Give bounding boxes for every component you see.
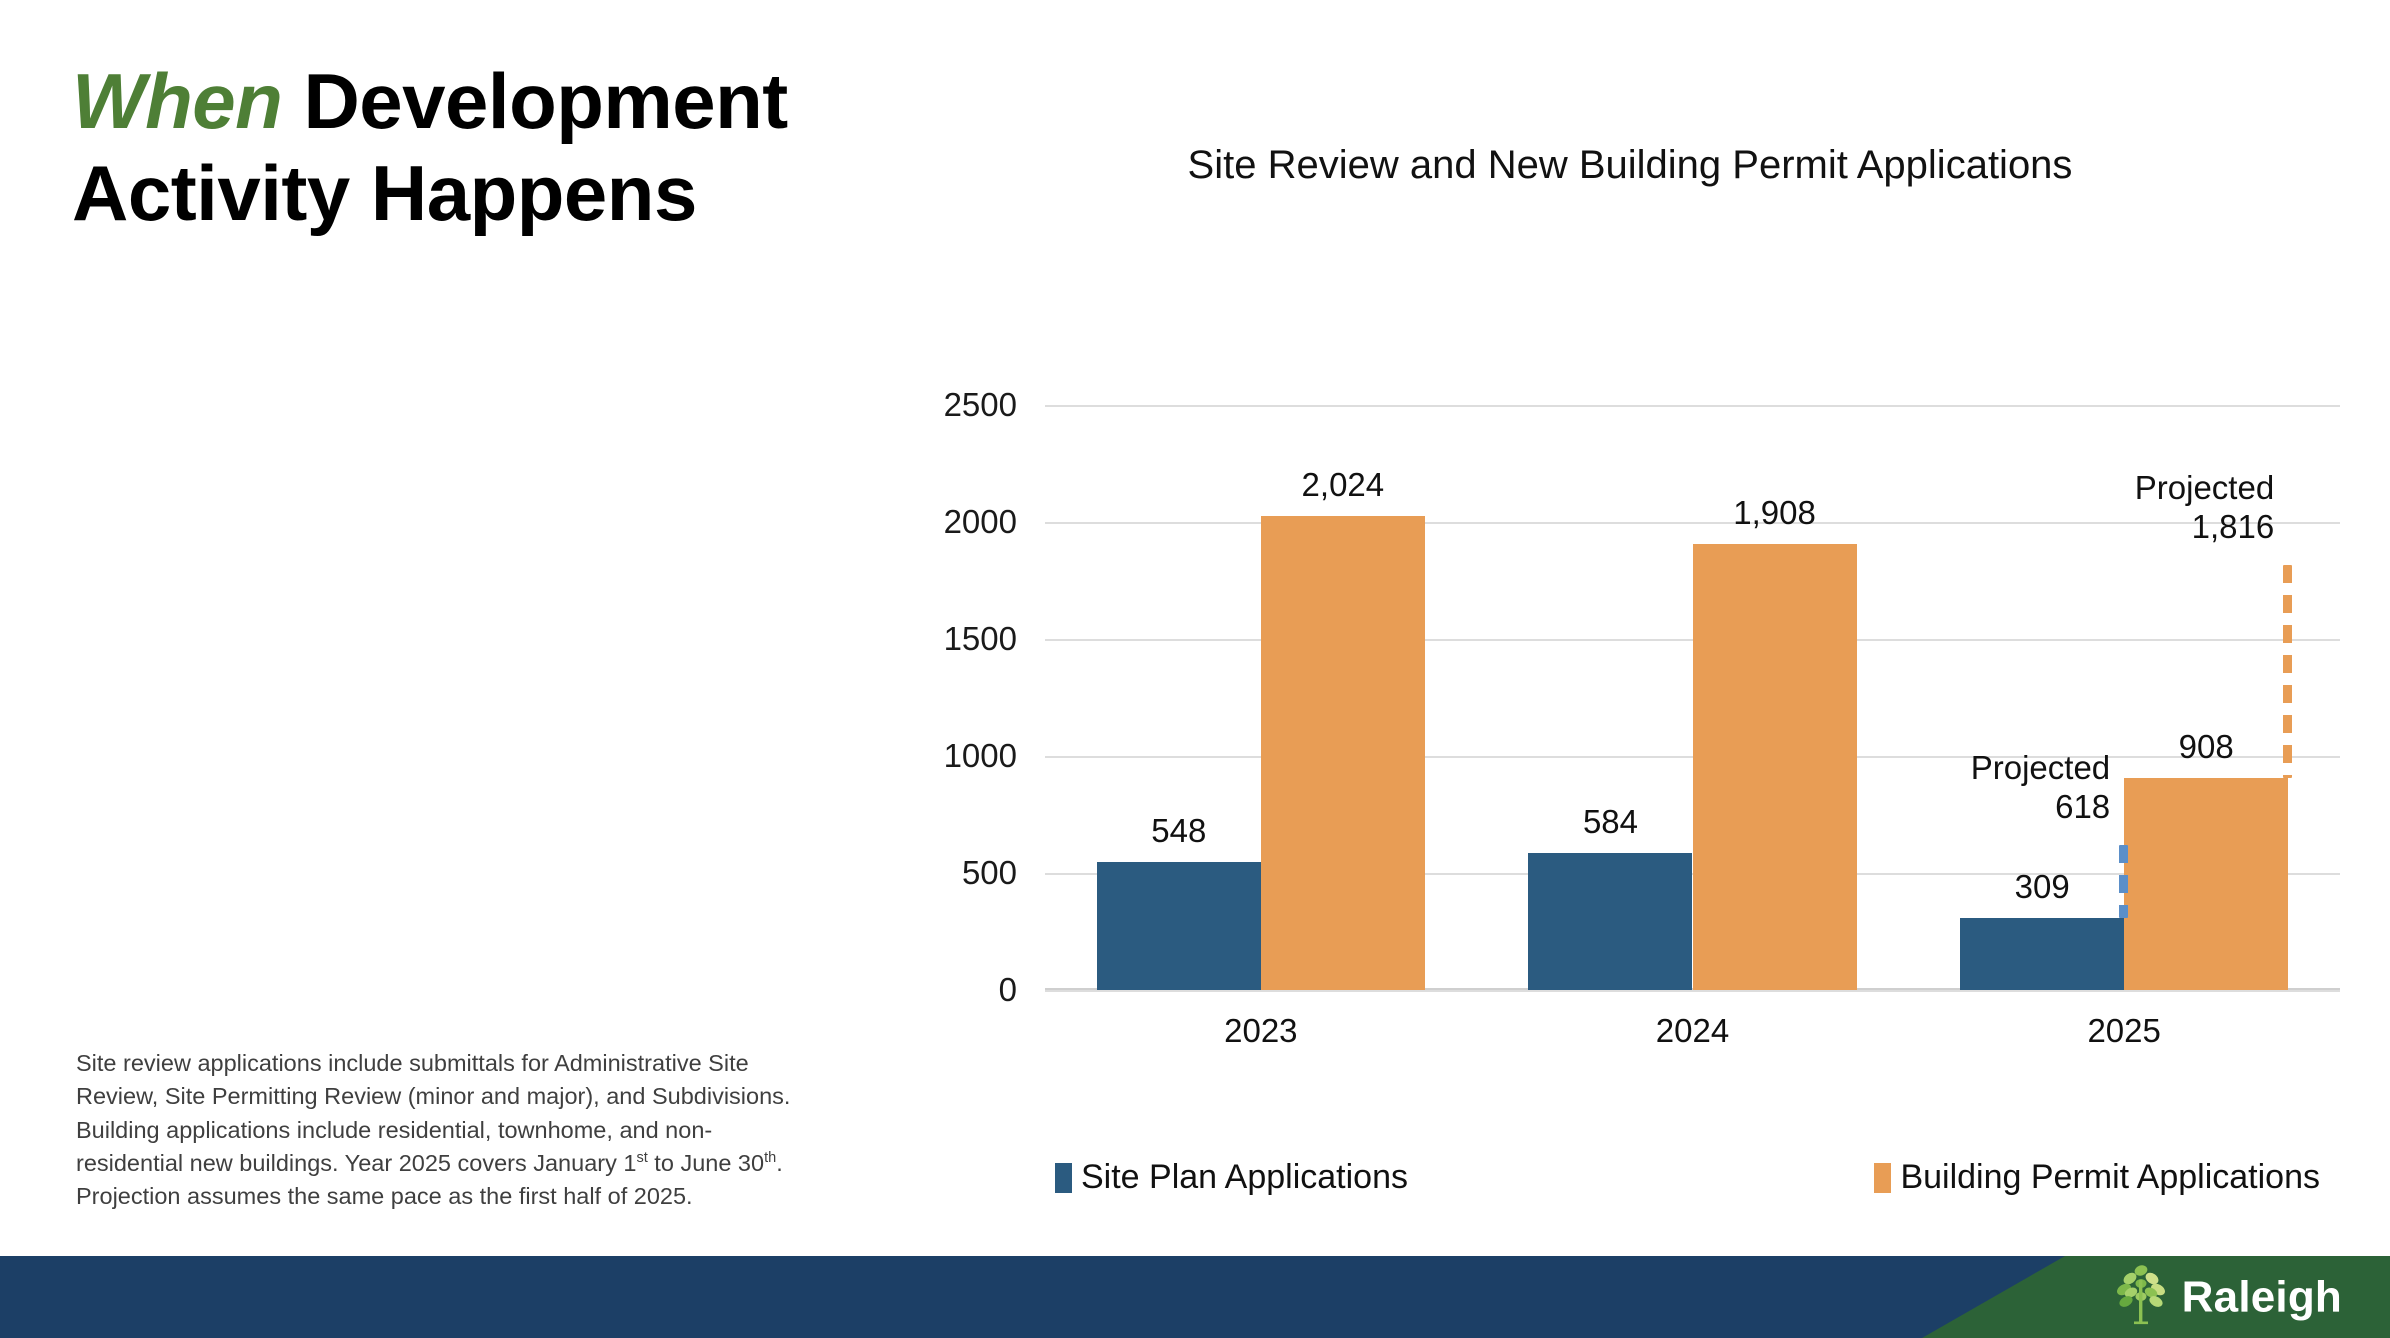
headline-accent-word: When <box>72 57 282 145</box>
bar-2023-site-plan[interactable] <box>1097 862 1261 990</box>
bar-2025-building-permit[interactable] <box>2124 778 2288 990</box>
bar-value-label: 2,024 <box>1302 466 1385 504</box>
x-axis-tick-label: 2024 <box>1656 1012 1729 1050</box>
projection-caption: Projected <box>1971 749 2110 788</box>
footnote-ordinal-1: st <box>636 1150 647 1166</box>
bar-2024-building-permit[interactable] <box>1693 544 1857 990</box>
bar-value-label: 908 <box>2179 728 2234 766</box>
gridline <box>1045 990 2340 992</box>
legend-label: Building Permit Applications <box>1900 1158 2320 1197</box>
bar-value-label: 1,908 <box>1733 494 1816 532</box>
bar-value-label: 309 <box>2015 868 2070 906</box>
y-axis-tick-label: 1500 <box>944 620 1017 658</box>
projection-label-site-plan: Projected618 <box>1971 749 2110 827</box>
y-axis-tick-label: 500 <box>962 854 1017 892</box>
x-axis-tick-label: 2023 <box>1224 1012 1297 1050</box>
footer-bar: Raleigh <box>0 1256 2390 1338</box>
chart-title: Site Review and New Building Permit Appl… <box>1080 140 2180 191</box>
plot-area: 050010001500200025005482,02420235841,908… <box>1045 405 2340 990</box>
projection-label-building-permit: Projected1,816 <box>2135 469 2274 547</box>
slide: When Development Activity Happens Site r… <box>0 0 2390 1338</box>
projection-value: 618 <box>1971 788 2110 827</box>
bar-2025-site-plan[interactable] <box>1960 918 2124 990</box>
brand-name: Raleigh <box>2182 1272 2342 1322</box>
legend-label: Site Plan Applications <box>1081 1158 1408 1197</box>
x-axis-tick-label: 2025 <box>2087 1012 2160 1050</box>
footer-green-wedge <box>0 1256 2390 1338</box>
bar-2023-building-permit[interactable] <box>1261 516 1425 990</box>
footnote-ordinal-2: th <box>764 1150 776 1166</box>
projection-value: 1,816 <box>2135 508 2274 547</box>
legend-swatch <box>1055 1163 1072 1193</box>
y-axis-tick-label: 0 <box>999 971 1017 1009</box>
bar-value-label: 584 <box>1583 803 1638 841</box>
brand-lockup: Raleigh <box>2114 1264 2342 1331</box>
y-axis-tick-label: 1000 <box>944 737 1017 775</box>
y-axis-tick-label: 2500 <box>944 386 1017 424</box>
projection-marker-site-plan <box>2119 845 2128 917</box>
y-axis-tick-label: 2000 <box>944 503 1017 541</box>
legend-item-site-plan[interactable]: Site Plan Applications <box>1055 1158 1408 1197</box>
legend-swatch <box>1874 1163 1891 1193</box>
footnote-part-2: to June 30 <box>648 1150 764 1176</box>
gridline <box>1045 405 2340 407</box>
bar-value-label: 548 <box>1151 812 1206 850</box>
projection-marker-building-permit <box>2283 565 2292 777</box>
chart-legend: Site Plan ApplicationsBuilding Permit Ap… <box>1045 1158 2340 1197</box>
oak-tree-icon <box>2114 1264 2168 1331</box>
bar-chart: Site Review and New Building Permit Appl… <box>900 130 2360 1230</box>
bar-2024-site-plan[interactable] <box>1528 853 1692 990</box>
footnote-text: Site review applications include submitt… <box>76 1047 806 1214</box>
projection-caption: Projected <box>2135 469 2274 508</box>
legend-item-building-permit[interactable]: Building Permit Applications <box>1874 1158 2320 1197</box>
